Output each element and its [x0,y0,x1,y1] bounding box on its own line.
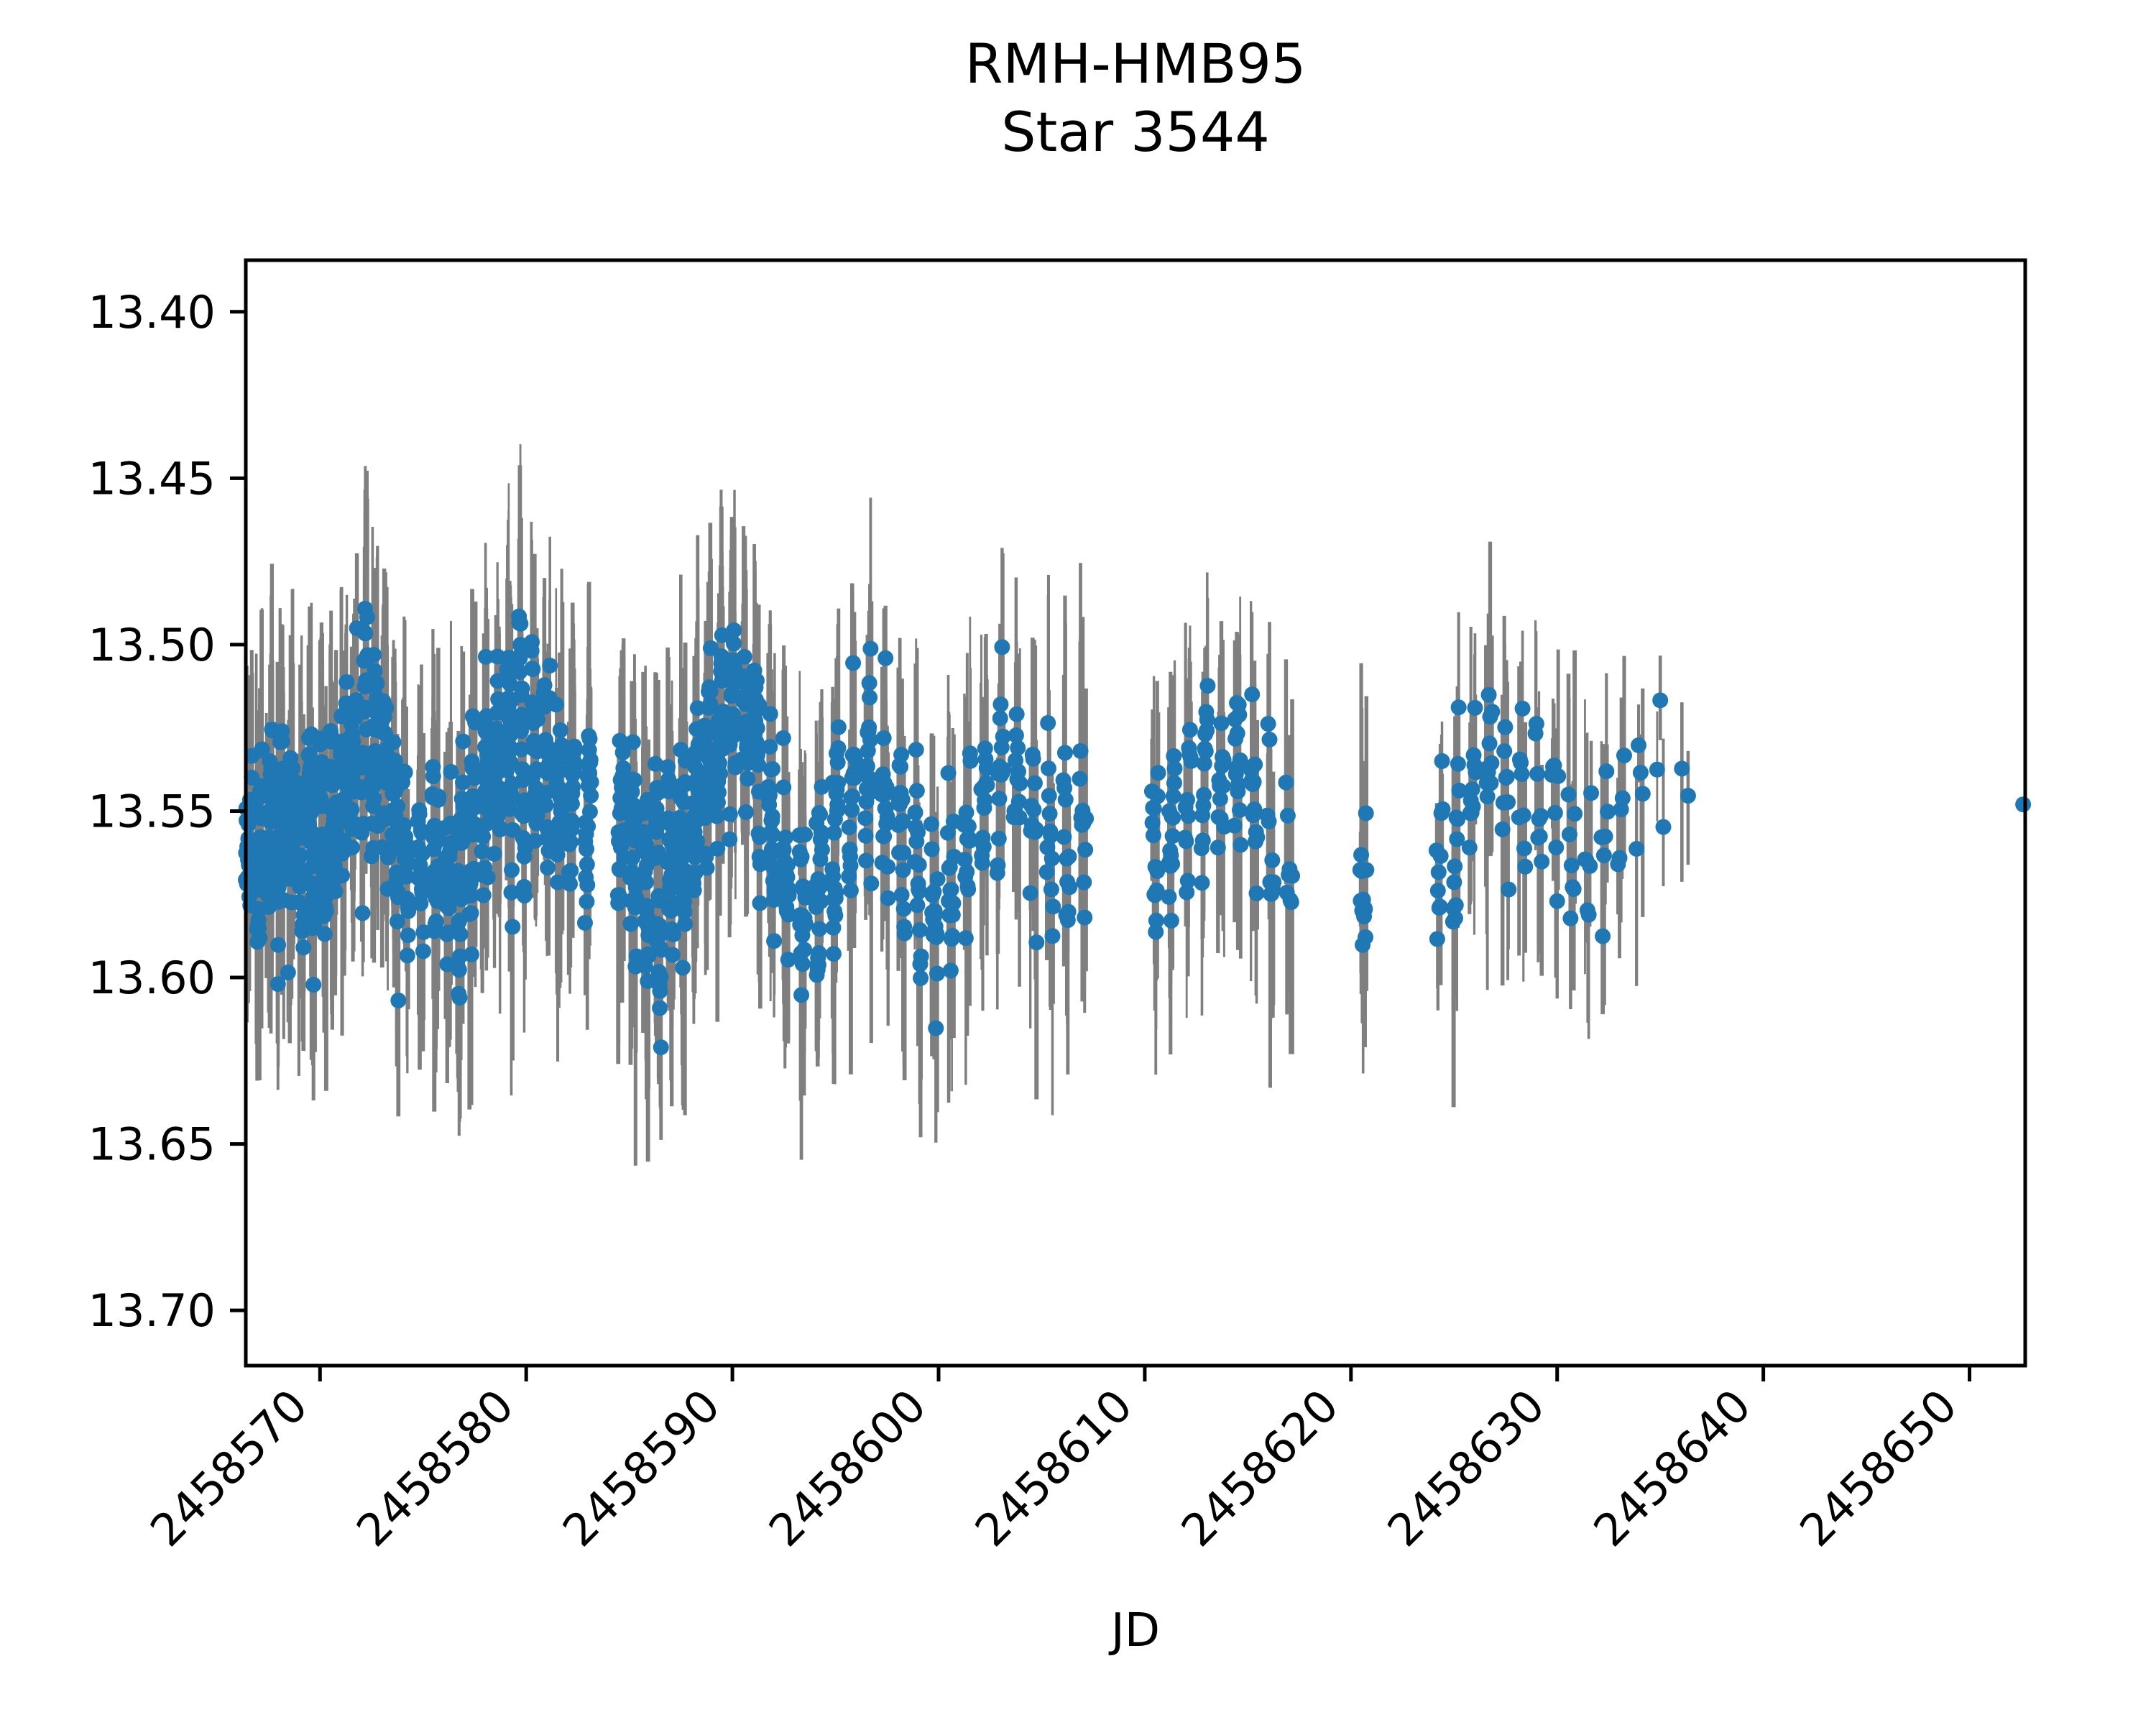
data-point [652,1000,668,1016]
data-point [794,849,810,865]
data-point [826,825,842,841]
data-point [580,819,596,834]
data-point [738,804,754,820]
data-point [1496,743,1512,759]
data-point [711,784,727,800]
data-point [366,647,382,663]
data-point [428,914,444,929]
data-point [749,673,765,689]
data-point [1674,760,1690,776]
data-point [1247,757,1263,773]
data-point [913,949,929,965]
data-point [830,740,846,756]
data-point [992,696,1008,712]
data-point [583,752,599,768]
data-point [1649,762,1665,778]
data-point [1150,788,1166,804]
data-point [765,761,780,777]
data-point [328,883,344,899]
data-point [1529,716,1544,732]
data-point [829,797,845,813]
data-point [909,898,925,914]
data-point [1596,847,1612,863]
data-point [1057,745,1073,760]
data-point [579,857,595,873]
y-tick-label: 13.45 [88,452,216,505]
data-point [1582,858,1598,874]
data-point [893,747,909,763]
data-point [1266,874,1281,890]
data-point [480,870,496,885]
data-point [1635,786,1651,801]
data-point [582,731,598,747]
data-point [1077,842,1093,857]
data-point [270,937,286,953]
data-point [923,816,939,832]
data-point [712,765,728,781]
data-point [959,864,975,880]
data-point [1182,722,1198,737]
data-point [357,625,373,641]
data-point [455,733,471,749]
data-point [1044,928,1060,944]
data-point [1264,852,1280,868]
data-point [842,819,857,835]
data-point [280,965,296,980]
data-point [1581,907,1597,923]
chart-canvas: RMH-HMB95 Star 3544 24585702458580245859… [0,0,2156,1725]
data-point [796,942,812,957]
data-point [977,792,992,808]
data-point [317,926,333,942]
data-point [1078,811,1094,827]
data-point [826,946,842,962]
data-point [1465,799,1481,814]
data-point [975,855,990,871]
data-point [827,908,843,924]
data-point [1562,911,1578,926]
data-point [726,622,742,638]
data-point [793,987,809,1003]
data-point [1233,837,1248,853]
data-point [830,775,846,791]
data-point [811,921,827,937]
data-point [991,791,1007,806]
light-curve-figure: RMH-HMB95 Star 3544 24585702458580245859… [0,0,2156,1725]
data-point [1482,735,1498,751]
data-point [579,877,595,893]
data-point [1433,848,1449,864]
data-point [897,926,913,942]
data-point [1010,740,1026,755]
data-point [1633,765,1649,781]
data-point [722,832,737,847]
data-point [453,926,469,942]
data-point [863,875,879,891]
data-point [1230,776,1246,792]
data-point [844,788,860,804]
data-point [798,916,814,931]
data-point [1249,829,1265,845]
data-point [1550,768,1566,784]
data-point [1446,875,1462,891]
data-point [1072,771,1088,787]
data-point [366,791,382,806]
data-point [930,871,946,887]
data-point [1533,808,1549,824]
data-point [1179,792,1195,808]
data-point [548,696,564,712]
data-point [638,874,654,890]
data-point [1499,769,1515,785]
data-point [390,799,405,814]
data-point [524,634,540,650]
data-point [797,827,813,842]
data-point [386,735,402,750]
y-tick-label: 13.50 [88,619,216,671]
data-point [1595,929,1611,944]
data-point [476,887,492,903]
data-point [504,862,520,878]
data-point [464,947,479,962]
data-point [857,810,873,826]
data-point [564,822,580,837]
data-point [1041,760,1056,776]
data-point [992,710,1008,726]
data-point [831,719,847,735]
data-point [1164,913,1179,929]
data-point [412,806,428,822]
data-point [369,676,385,691]
data-point [582,804,598,819]
data-point [828,885,844,901]
data-point [1166,775,1182,791]
data-point [1500,794,1516,810]
data-point [862,689,877,705]
data-point [1501,882,1516,898]
data-point [1547,805,1563,821]
data-point [911,857,927,873]
data-point [355,905,371,921]
data-point [623,916,639,932]
data-point [765,809,780,824]
data-point [910,824,926,840]
data-point [452,990,468,1006]
data-point [359,609,375,625]
data-point [1358,862,1374,878]
data-point [990,857,1005,873]
data-point [1431,864,1447,880]
data-point [928,1021,944,1036]
data-point [1026,751,1041,767]
data-point [1515,701,1531,717]
data-point [858,852,874,868]
data-point [1358,805,1374,821]
data-point [1196,787,1212,803]
data-point [913,970,929,986]
data-point [1429,931,1445,947]
data-point [908,804,923,820]
data-point [1195,832,1211,848]
data-point [811,945,826,961]
data-point [1148,913,1164,929]
data-point [927,903,943,919]
data-point [843,883,859,898]
data-point [1181,808,1197,824]
data-point [762,787,778,803]
data-point [1044,882,1059,898]
data-point [699,860,715,876]
data-point [1278,775,1294,791]
data-point [1628,841,1644,857]
data-point [379,700,395,716]
data-point [1284,868,1300,884]
data-point [1451,699,1467,715]
data-point [1434,753,1450,769]
data-point [1230,725,1245,741]
data-point [1432,898,1448,914]
data-point [295,939,311,955]
data-point [1549,893,1565,909]
data-point [1616,747,1632,763]
data-point [876,730,892,746]
data-point [425,768,441,784]
data-point [943,962,959,978]
data-point [451,962,467,977]
data-point [1534,854,1549,870]
data-point [1213,715,1229,731]
data-point [334,868,350,883]
data-point [1484,704,1500,719]
data-point [1680,788,1696,804]
data-point [1612,850,1628,866]
data-point [1198,743,1214,759]
data-point [285,760,300,776]
data-point [960,881,976,897]
data-point [1517,859,1533,875]
data-point [1232,802,1248,818]
data-point [1483,776,1498,791]
data-point [737,649,752,665]
data-point [862,675,877,691]
data-point [775,779,791,795]
data-point [781,881,797,897]
data-point [627,772,642,788]
data-point [1183,753,1199,769]
data-point [275,734,290,750]
data-point [1261,732,1277,747]
data-point [1072,743,1088,759]
data-point [1027,776,1043,791]
data-point [1280,808,1296,824]
data-point [1161,889,1176,905]
data-point [252,930,267,946]
data-point [880,891,896,906]
data-point [945,896,961,911]
data-point [1199,678,1215,694]
data-point [1447,858,1462,874]
data-point [1567,806,1583,822]
data-point [579,841,594,857]
data-point [400,927,416,943]
data-point [1044,851,1060,867]
data-point [762,739,778,755]
data-point [1615,791,1631,806]
data-point [652,983,668,999]
data-point [1042,806,1058,822]
data-point [845,655,861,671]
data-point [1548,839,1564,855]
data-point [551,758,567,773]
data-point [1480,788,1496,804]
data-point [962,753,978,769]
data-point [1077,910,1092,926]
data-point [1655,819,1671,835]
data-point [750,720,765,736]
data-point [1583,785,1599,801]
data-point [894,887,910,903]
data-point [517,888,533,903]
chart-title: RMH-HMB95 [965,32,1307,96]
data-point [896,901,912,916]
data-point [1450,756,1466,772]
data-point [553,722,568,738]
data-point [1465,781,1480,797]
y-tick-label: 13.55 [88,785,216,837]
data-point [583,788,599,804]
y-tick-label: 13.65 [88,1118,216,1171]
data-point [318,903,334,919]
y-tick-label: 13.40 [88,286,216,339]
data-point [415,944,431,960]
data-point [542,658,558,673]
data-point [908,742,924,758]
data-point [1041,788,1057,804]
data-point [844,802,860,818]
data-point [722,806,738,822]
data-point [1076,875,1092,891]
data-point [579,894,594,910]
data-point [862,732,878,747]
data-point [1497,719,1513,735]
data-point [1056,829,1072,845]
data-point [525,661,540,677]
data-point [1248,885,1264,901]
data-point [1199,712,1215,727]
data-point [677,916,693,932]
data-point [505,919,520,934]
data-point [766,933,782,949]
data-point [1448,897,1464,913]
data-point [338,674,354,690]
data-point [1164,856,1180,872]
data-point [862,641,878,657]
data-point [1561,786,1577,802]
data-point [400,947,415,963]
data-point [912,922,928,938]
data-point [625,735,641,750]
data-point [1481,687,1497,703]
data-point [1353,847,1369,862]
data-point [1652,692,1668,708]
data-point [979,777,995,793]
data-point [566,762,582,778]
data-point [675,960,691,975]
data-point [1430,883,1446,898]
data-point [1009,707,1025,722]
data-point [1167,760,1183,776]
data-point [959,804,975,820]
x-axis-label: JD [1108,1604,1160,1657]
data-point [1495,822,1511,837]
data-point [305,977,321,993]
data-point [1180,873,1196,888]
data-point [1598,829,1613,845]
data-point [344,839,360,855]
data-point [1462,839,1478,855]
data-point [1227,818,1243,834]
data-point [1028,822,1044,837]
data-point [665,947,681,962]
data-point [1012,776,1028,791]
data-point [944,882,959,898]
data-point [994,639,1010,655]
data-point [1562,827,1577,842]
data-point [1514,766,1529,782]
data-point [814,842,830,857]
data-point [1061,879,1077,895]
data-point [895,792,911,808]
data-point [775,730,791,746]
data-point [567,742,583,758]
data-point [1284,894,1299,910]
data-point [1434,801,1450,817]
data-point [830,755,846,770]
data-point [1178,834,1194,850]
data-point [976,839,992,855]
data-point [540,860,556,875]
data-point [1357,901,1373,917]
data-point [1023,885,1038,901]
data-point [1483,755,1499,771]
data-point [390,993,406,1008]
data-point [858,828,874,844]
data-point [763,706,778,722]
data-point [877,650,893,666]
y-tick-label: 13.60 [88,952,216,1004]
data-point [1467,700,1483,716]
data-point [686,883,702,898]
data-point [909,783,925,799]
data-point [924,841,940,857]
data-point [1165,810,1181,826]
data-point [795,956,811,972]
data-point [653,1039,669,1055]
data-point [563,862,579,878]
y-tick-label: 13.70 [88,1284,216,1337]
data-point [1261,814,1277,829]
data-point [1261,716,1276,732]
data-point [958,930,974,946]
data-point [940,765,956,781]
data-point [1026,801,1041,817]
data-point [397,765,413,781]
data-point [752,896,768,911]
data-point [1040,715,1056,731]
data-point [812,806,828,822]
data-point [1146,827,1161,843]
data-point [1061,904,1077,920]
